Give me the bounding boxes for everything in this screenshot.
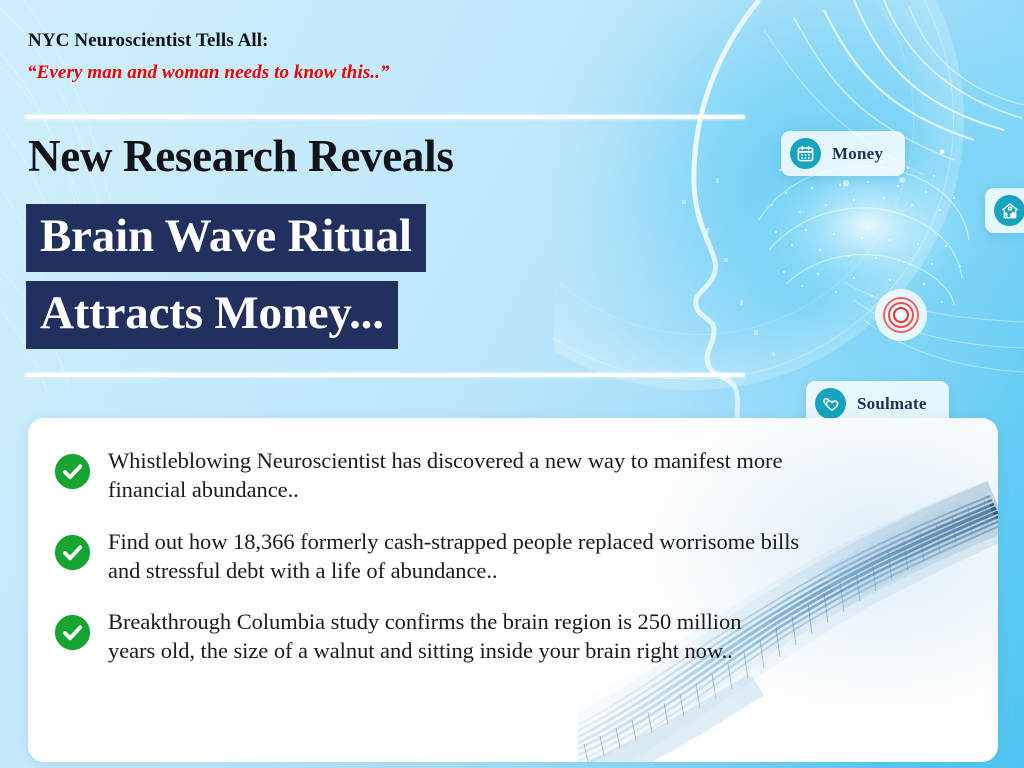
headline-highlight-1: Brain Wave Ritual — [26, 204, 426, 272]
house-icon — [994, 195, 1024, 226]
calendar-icon — [790, 138, 821, 169]
headline-highlight-2: Attracts Money... — [26, 281, 398, 349]
headline-line-1: New Research Reveals — [28, 134, 454, 179]
brain-network-illustration — [554, 0, 1024, 430]
divider-top — [25, 115, 745, 119]
badge-money-label: Money — [832, 144, 883, 164]
list-item: Whistleblowing Neuroscientist has discov… — [28, 446, 998, 505]
heart-icon — [815, 388, 846, 419]
list-item: Find out how 18,366 formerly cash-strapp… — [28, 527, 998, 586]
check-circle-icon — [54, 534, 91, 571]
page-kicker: NYC Neuroscientist Tells All: — [28, 30, 269, 52]
badge-money[interactable]: Money — [781, 131, 905, 176]
list-item-text: Breakthrough Columbia study confirms the… — [108, 607, 748, 666]
badge-home[interactable] — [985, 188, 1024, 233]
landing-page: NYC Neuroscientist Tells All: “Every man… — [0, 0, 1024, 768]
check-circle-icon — [54, 614, 91, 651]
brain-svg — [554, 0, 1024, 430]
list-item-text: Find out how 18,366 formerly cash-strapp… — [108, 527, 828, 586]
badge-soulmate-label: Soulmate — [857, 394, 927, 414]
list-item-text: Whistleblowing Neuroscientist has discov… — [108, 446, 828, 505]
check-circle-icon — [54, 453, 91, 490]
red-pulse-target — [872, 286, 930, 344]
page-quote: “Every man and woman needs to know this.… — [27, 62, 390, 84]
benefits-card: Whistleblowing Neuroscientist has discov… — [28, 418, 998, 762]
benefits-list: Whistleblowing Neuroscientist has discov… — [28, 418, 998, 688]
list-item: Breakthrough Columbia study confirms the… — [28, 607, 998, 666]
divider-bottom — [25, 373, 745, 377]
